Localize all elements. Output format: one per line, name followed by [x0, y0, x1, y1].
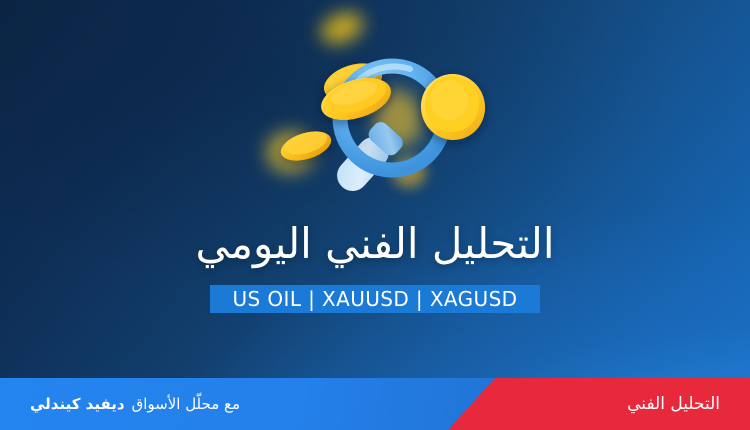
- banner-root: التحليل الفني اليومي US OIL | XAUUSD | X…: [0, 0, 750, 430]
- instruments-badge-wrapper: US OIL | XAUUSD | XAGUSD: [0, 285, 750, 313]
- magnifier-coins-illustration: [268, 0, 513, 215]
- footer-bar: مع محلّل الأسواق ديفيد كيندلي التحليل ال…: [0, 378, 750, 430]
- footer-section-label-wrapper: التحليل الفني: [627, 378, 720, 430]
- footer-section-label: التحليل الفني: [627, 394, 720, 414]
- footer-analyst-name: ديفيد كيندلي: [30, 395, 125, 413]
- page-title: التحليل الفني اليومي: [0, 218, 750, 270]
- instruments-badge: US OIL | XAUUSD | XAGUSD: [210, 285, 539, 313]
- gold-coin-icon: [316, 7, 367, 49]
- footer-with-label: مع محلّل الأسواق: [132, 395, 240, 413]
- footer-analyst-credit: مع محلّل الأسواق ديفيد كيندلي: [0, 378, 240, 430]
